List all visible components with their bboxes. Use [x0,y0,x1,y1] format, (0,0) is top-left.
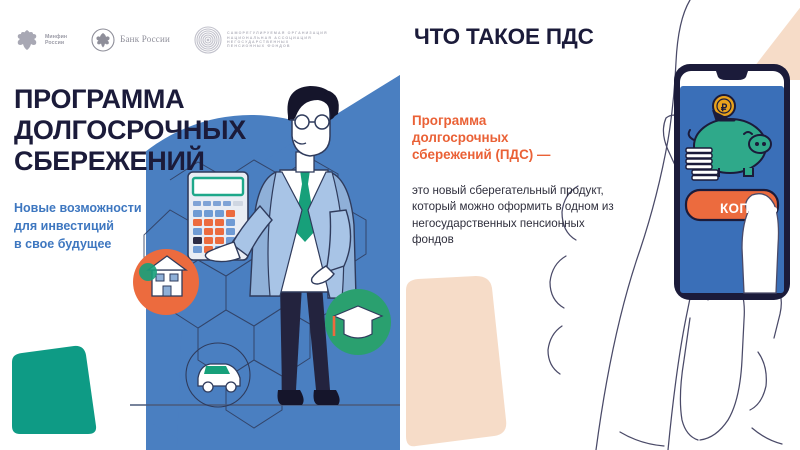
slide-canvas: ₽ [0,0,800,450]
teal-corner-shape [8,344,98,434]
logo-minfin-text: Минфин России [45,34,67,47]
smartphone-illustration: ₽ [672,62,792,302]
lead-paragraph: Программа долгосрочных сбережений (ПДС) … [412,112,624,163]
page-title: ЧТО ТАКОЕ ПДС [414,24,594,50]
bank-of-russia-eagle-icon [91,28,115,52]
logo-bar: Минфин России Банк России [14,26,328,54]
lead-line-1: Программа [412,112,624,129]
svg-text:₽: ₽ [721,103,728,114]
logo-napf: САМОРЕГУЛИРУЕМАЯ ОРГАНИЗАЦИЯ НАЦИОНАЛЬНА… [194,26,328,54]
peach-bottom-shape [400,274,510,450]
left-title: ПРОГРАММА ДОЛГОСРОЧНЫХ СБЕРЕЖЕНИЙ [14,84,246,176]
left-title-line-2: ДОЛГОСРОЧНЫХ [14,115,246,146]
right-panel: ₽ [400,0,800,450]
lead-line-2: долгосрочных [412,129,624,146]
left-subtitle-line-3: в свое будущее [14,236,142,254]
double-headed-eagle-icon [14,27,40,53]
body-paragraph: это новый сберегательный продукт, которы… [412,183,617,248]
car-badge [186,343,250,407]
logo-bank-rossii-text: Банк России [120,34,170,45]
logo-napf-line-1: САМОРЕГУЛИРУЕМАЯ ОРГАНИЗАЦИЯ [227,31,328,35]
left-title-line-1: ПРОГРАММА [14,84,246,115]
house-badge [133,249,199,315]
left-subtitle-line-2: для инвестиций [14,218,142,236]
logo-napf-text: САМОРЕГУЛИРУЕМАЯ ОРГАНИЗАЦИЯ НАЦИОНАЛЬНА… [227,31,328,49]
logo-minfin-line-2: России [45,40,67,47]
lead-line-3: сбережений (ПДС) — [412,146,624,163]
left-subtitle: Новые возможности для инвестиций в свое … [14,200,142,253]
left-subtitle-line-1: Новые возможности [14,200,142,218]
logo-napf-line-4: ПЕНСИОННЫХ ФОНДОВ [227,44,328,48]
left-title-line-3: СБЕРЕЖЕНИЙ [14,146,246,177]
graduation-cap-badge [325,289,391,355]
concentric-rings-icon [194,26,222,54]
logo-minfin: Минфин России [14,27,67,53]
logo-bank-rossii: Банк России [91,28,170,52]
